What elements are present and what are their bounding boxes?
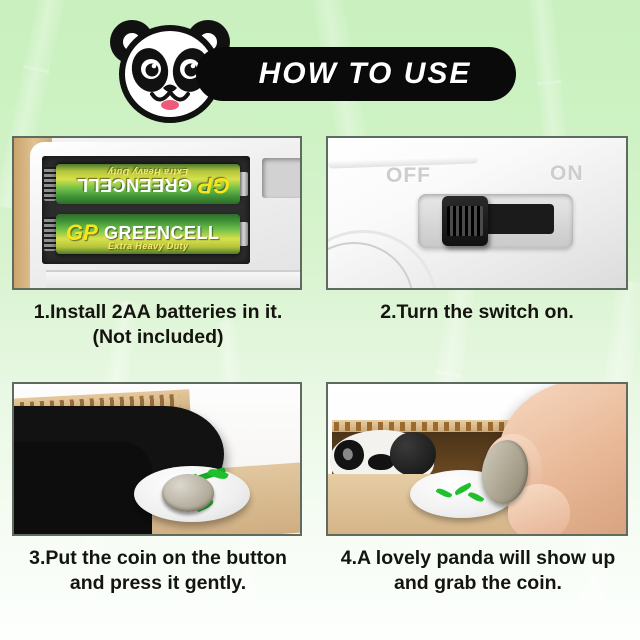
caption-line: 2.Turn the switch on. — [326, 300, 628, 325]
battery-bay: GP GREENCELL Extra Heavy Duty GP GREENCE… — [42, 156, 250, 264]
battery-subtitle-label: Extra Heavy Duty — [108, 241, 188, 251]
header: HOW TO USE — [0, 0, 640, 128]
page-title: HOW TO USE — [241, 57, 472, 91]
battery-subtitle-label: Extra Heavy Duty — [108, 167, 188, 177]
case-lip — [46, 270, 302, 290]
caption-line: (Not included) — [8, 325, 308, 350]
battery-brand-label: GP — [66, 222, 98, 244]
coin-button[interactable] — [134, 466, 250, 522]
case-notch — [262, 158, 302, 198]
switch-on-label: ON — [550, 162, 584, 186]
caption-line: 3.Put the coin on the button — [6, 546, 310, 571]
how-to-use-infographic: HOW TO USE GP GREENCELL Extra Heavy Duty… — [0, 0, 640, 640]
battery-terminal-bottom — [239, 222, 248, 246]
step-2-caption: 2.Turn the switch on. — [326, 300, 628, 325]
switch-plate[interactable] — [418, 194, 573, 248]
coin[interactable] — [162, 474, 214, 512]
step-1-photo: GP GREENCELL Extra Heavy Duty GP GREENCE… — [12, 136, 302, 290]
switch-off-label: OFF — [386, 164, 431, 188]
step-4-caption: 4.A lovely panda will show up and grab t… — [322, 546, 634, 596]
battery-spring-top — [44, 167, 56, 201]
bamboo-leaf-icon — [436, 486, 453, 499]
battery-terminal-top — [239, 172, 248, 196]
caption-line: and grab the coin. — [322, 571, 634, 596]
caption-line: 4.A lovely panda will show up — [322, 546, 634, 571]
how-to-use-banner: HOW TO USE — [196, 47, 516, 101]
step-2-photo: OFF ON — [326, 136, 628, 290]
panda-paw-dark — [390, 432, 436, 476]
battery-aa-bottom: GP GREENCELL Extra Heavy Duty — [56, 214, 240, 254]
battery-brand-label: GP — [198, 174, 230, 196]
battery-aa-top: GP GREENCELL Extra Heavy Duty — [56, 164, 240, 204]
battery-case: GP GREENCELL Extra Heavy Duty GP GREENCE… — [30, 142, 302, 290]
switch-knob[interactable] — [442, 196, 488, 246]
panda-arm — [12, 442, 152, 536]
step-3-photo — [12, 382, 302, 536]
step-3-caption: 3.Put the coin on the button and press i… — [6, 546, 310, 596]
panda-eye-left — [331, 437, 367, 473]
caption-line: 1.Install 2AA batteries in it. — [8, 300, 308, 325]
step-4-photo — [326, 382, 628, 536]
caption-line: and press it gently. — [6, 571, 310, 596]
switch-housing: OFF ON — [328, 138, 626, 288]
battery-spring-bottom — [44, 217, 56, 251]
bamboo-leaf-icon — [468, 490, 485, 504]
step-1-caption: 1.Install 2AA batteries in it. (Not incl… — [8, 300, 308, 350]
battery-model-label: GREENCELL — [76, 174, 192, 195]
panda-pupil — [342, 447, 354, 461]
